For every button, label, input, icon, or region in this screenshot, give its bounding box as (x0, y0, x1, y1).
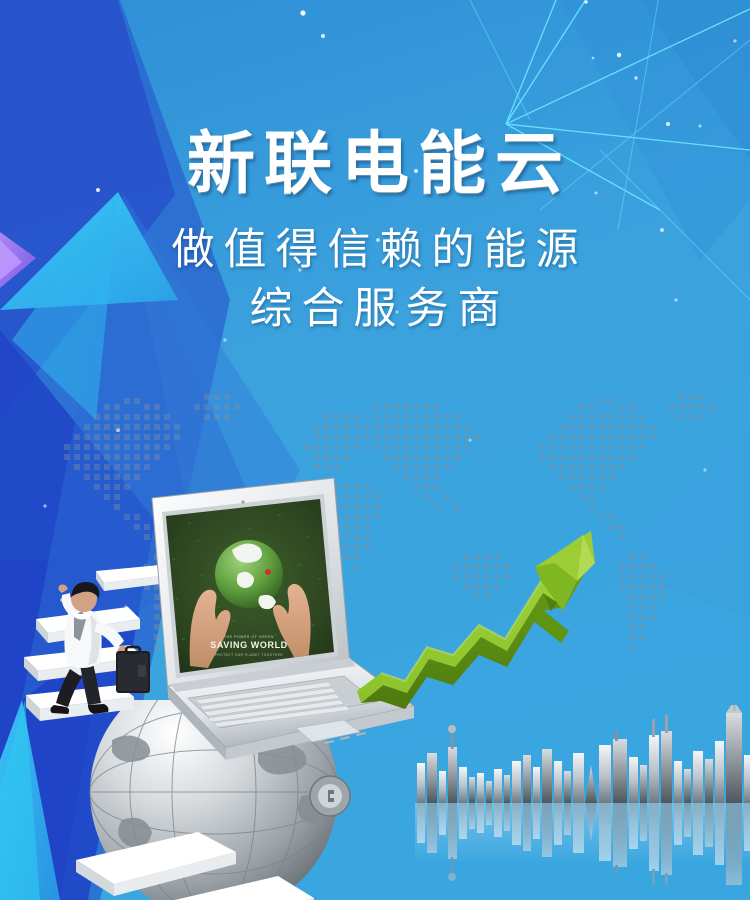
growth-arrow-icon (355, 515, 685, 740)
screen-subtitle-text: PROTECT OUR PLANET TOGETHER (215, 653, 284, 657)
screen-title-text: SAVING WORLD (210, 640, 288, 650)
screen-kicker-text: THE POWER OF GREEN (224, 635, 274, 639)
promo-banner: THE POWER OF GREEN SAVING WORLD PROTECT … (0, 0, 750, 900)
